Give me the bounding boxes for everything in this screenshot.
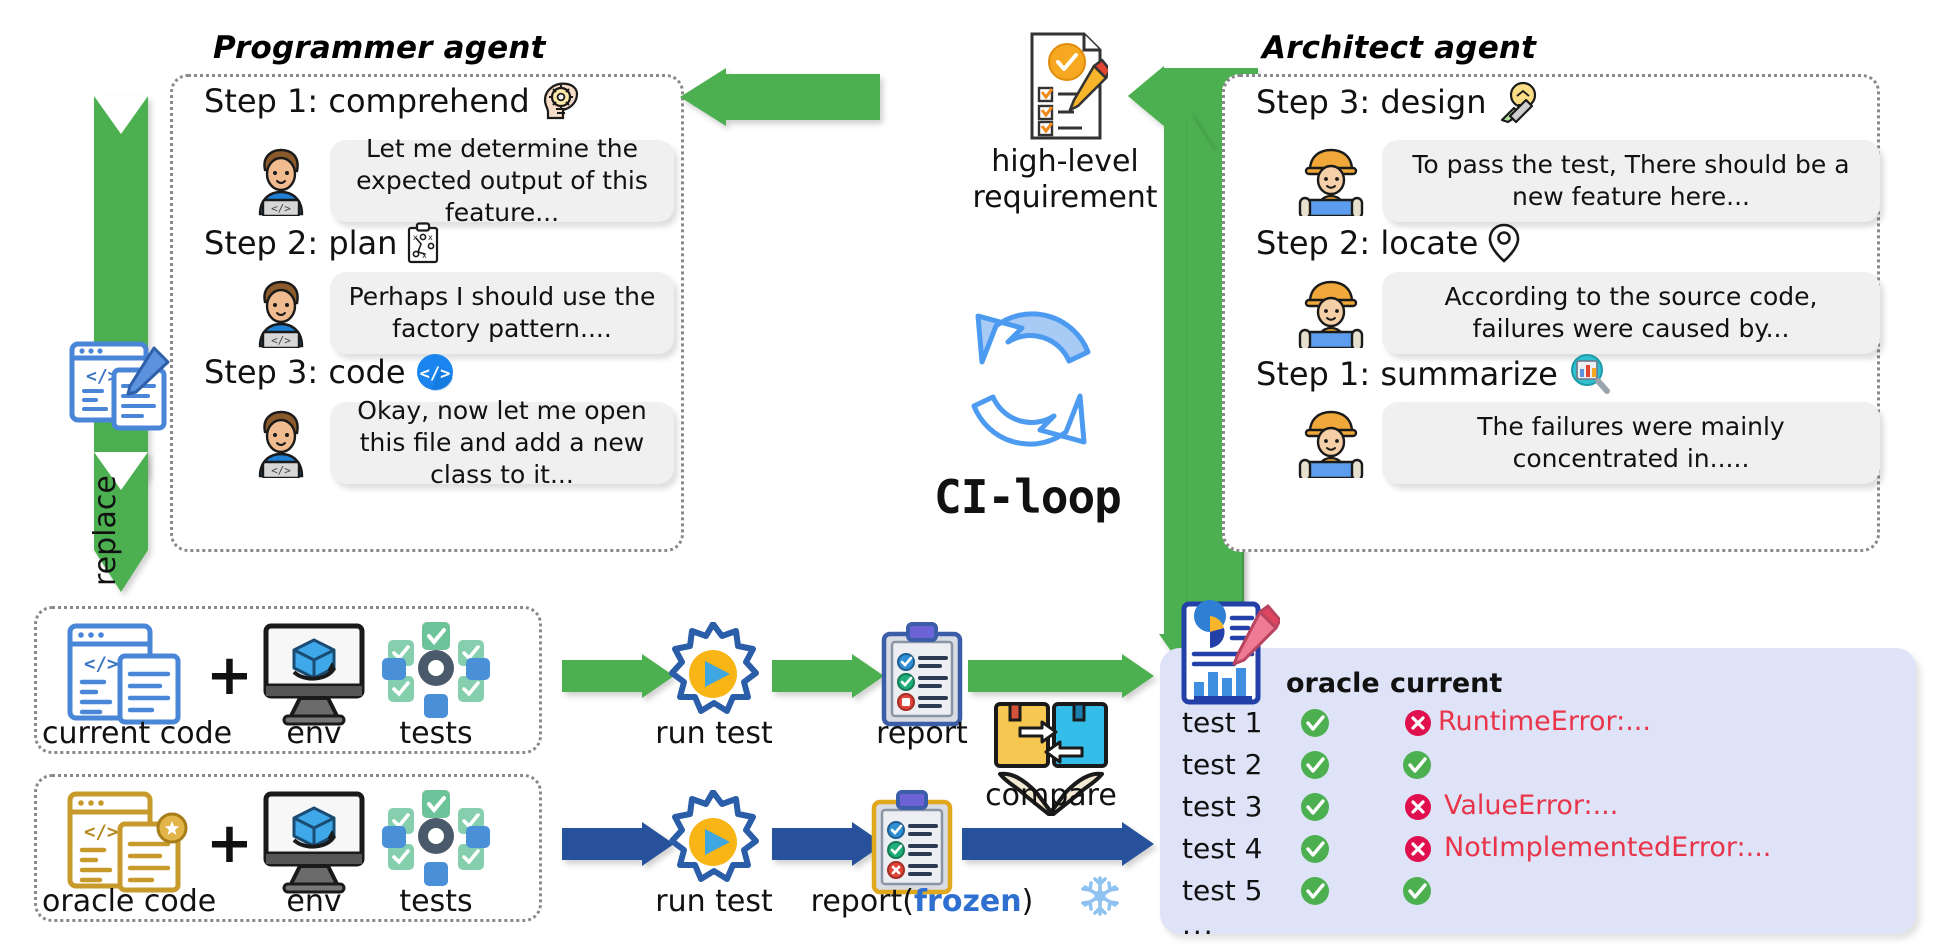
table-error-4: NotImplementedError:... (1444, 832, 1771, 863)
gear-play-icon (660, 790, 766, 894)
compare-label: compare (976, 778, 1126, 813)
tests-label-oracle: tests (376, 884, 496, 919)
programmer-avatar-icon: </> (246, 278, 316, 348)
architect-step-2-bubble: According to the source code, failures w… (1382, 272, 1880, 354)
table-error-1: RuntimeError:... (1438, 706, 1651, 737)
code-file-edit-icon: </> (62, 330, 182, 440)
status-pass-icon (1300, 834, 1330, 864)
plus-sign-current: + (206, 648, 253, 704)
table-error-3: ValueError:... (1444, 790, 1618, 821)
report-chart-pencil-icon (1176, 598, 1280, 708)
status-fail-icon (1404, 793, 1432, 821)
tests-gear-grid-icon (382, 616, 490, 720)
report-frozen-word: frozen (914, 884, 1022, 919)
architect-step-2-header: Step 2: locate (1256, 222, 1521, 264)
svg-text:</>: </> (419, 364, 450, 384)
oracle-arrow-1 (562, 822, 674, 866)
clipboard-report-icon (876, 620, 968, 730)
refresh-cycle-icon (938, 286, 1124, 472)
ci-loop-label: CI-loop (934, 470, 1121, 524)
svg-text:</>: </> (271, 464, 291, 477)
programmer-step-1-header: Step 1: comprehend (204, 80, 581, 122)
monitor-cube-icon (258, 620, 370, 728)
programmer-agent-title: Programmer agent (213, 30, 546, 66)
current-arrow-3 (968, 654, 1154, 698)
svg-text:</>: </> (271, 334, 291, 347)
oracle-code-label: oracle code (42, 884, 212, 919)
status-fail-icon (1404, 835, 1432, 863)
architect-step-3-bubble: To pass the test, There should be a new … (1382, 140, 1880, 222)
clipboard-report-gold-icon (866, 788, 958, 898)
status-pass-icon (1300, 750, 1330, 780)
programmer-step-1-bubble: Let me determine the expected output of … (330, 140, 674, 222)
snowflake-icon (1078, 874, 1122, 918)
table-row-label-1: test 1 (1182, 706, 1263, 739)
programmer-avatar-icon: </> (246, 408, 316, 478)
programmer-step-2-header: Step 2: plan x x x (204, 222, 440, 264)
tests-gear-grid-icon (382, 784, 490, 888)
current-arrow-1 (562, 654, 674, 698)
architect-step-1-label: Step 1: summarize (1256, 355, 1558, 393)
status-pass-icon (1402, 750, 1432, 780)
programmer-step-2-label: Step 2: plan (204, 224, 397, 262)
bulb-pencil-icon (1496, 80, 1540, 124)
architect-step-3-label: Step 3: design (1256, 83, 1487, 121)
env-label-current: env (258, 716, 370, 751)
report-label-current: report (844, 716, 1000, 751)
requirement-arrow-left (680, 68, 880, 126)
status-pass-icon (1402, 876, 1432, 906)
architect-step-1-bubble: The failures were mainly concentrated in… (1382, 402, 1880, 484)
run-test-label-oracle: run test (636, 884, 792, 919)
svg-text:</>: </> (84, 653, 118, 675)
table-row-label-3: test 3 (1182, 790, 1263, 823)
programmer-step-2-bubble: Perhaps I should use the factory pattern… (330, 272, 674, 354)
run-test-label-current: run test (636, 716, 792, 751)
gear-play-icon (660, 622, 766, 726)
programmer-step-3-bubble: Okay, now let me open this file and add … (330, 402, 674, 484)
checklist-pencil-icon (1022, 30, 1108, 142)
plus-sign-oracle: + (206, 816, 253, 872)
programmer-step-3-header: Step 3: code </> (204, 352, 455, 392)
env-label-oracle: env (258, 884, 370, 919)
architect-step-1-header: Step 1: summarize (1256, 352, 1611, 396)
table-more-indicator: ... (1182, 908, 1215, 941)
tests-label-current: tests (376, 716, 496, 751)
architect-agent-title: Architect agent (1262, 30, 1536, 66)
oracle-arrow-3 (962, 822, 1154, 866)
table-row-label-2: test 2 (1182, 748, 1263, 781)
clipboard-strategy-icon: x x x (406, 222, 440, 264)
head-gear-bulb-icon (539, 80, 581, 122)
column-header-oracle: oracle (1286, 668, 1380, 699)
status-pass-icon (1300, 708, 1330, 738)
status-pass-icon (1300, 876, 1330, 906)
architect-step-3-header: Step 3: design (1256, 80, 1540, 124)
svg-text:</>: </> (84, 821, 118, 843)
svg-text:x: x (428, 233, 433, 242)
svg-text:x: x (413, 233, 418, 242)
architect-step-2-label: Step 2: locate (1256, 224, 1478, 262)
report-frozen-prefix: report( (811, 884, 914, 919)
programmer-avatar-icon: </> (246, 146, 316, 216)
column-header-current: current (1390, 668, 1502, 699)
table-row-label-4: test 4 (1182, 832, 1263, 865)
architect-avatar-icon (1296, 146, 1366, 216)
chart-magnifier-icon (1567, 352, 1611, 396)
architect-avatar-icon (1296, 278, 1366, 348)
diagram-canvas: </> replace Programmer agent Step 1: com… (0, 0, 1936, 952)
architect-avatar-icon (1296, 408, 1366, 478)
svg-text:</>: </> (271, 202, 291, 215)
current-arrow-2 (772, 654, 884, 698)
programmer-step-1-label: Step 1: comprehend (204, 82, 530, 120)
replace-label: replace (88, 475, 123, 586)
programmer-step-3-label: Step 3: code (204, 353, 406, 391)
report-frozen-label: report(frozen) (772, 884, 1072, 919)
report-frozen-suffix: ) (1022, 884, 1034, 919)
monitor-cube-icon (258, 788, 370, 896)
status-pass-icon (1300, 792, 1330, 822)
code-badge-icon: </> (415, 352, 455, 392)
svg-text:x: x (422, 251, 427, 260)
table-row-label-5: test 5 (1182, 874, 1263, 907)
map-pin-icon (1487, 222, 1521, 264)
status-fail-icon (1404, 709, 1432, 737)
current-code-label: current code (42, 716, 212, 751)
